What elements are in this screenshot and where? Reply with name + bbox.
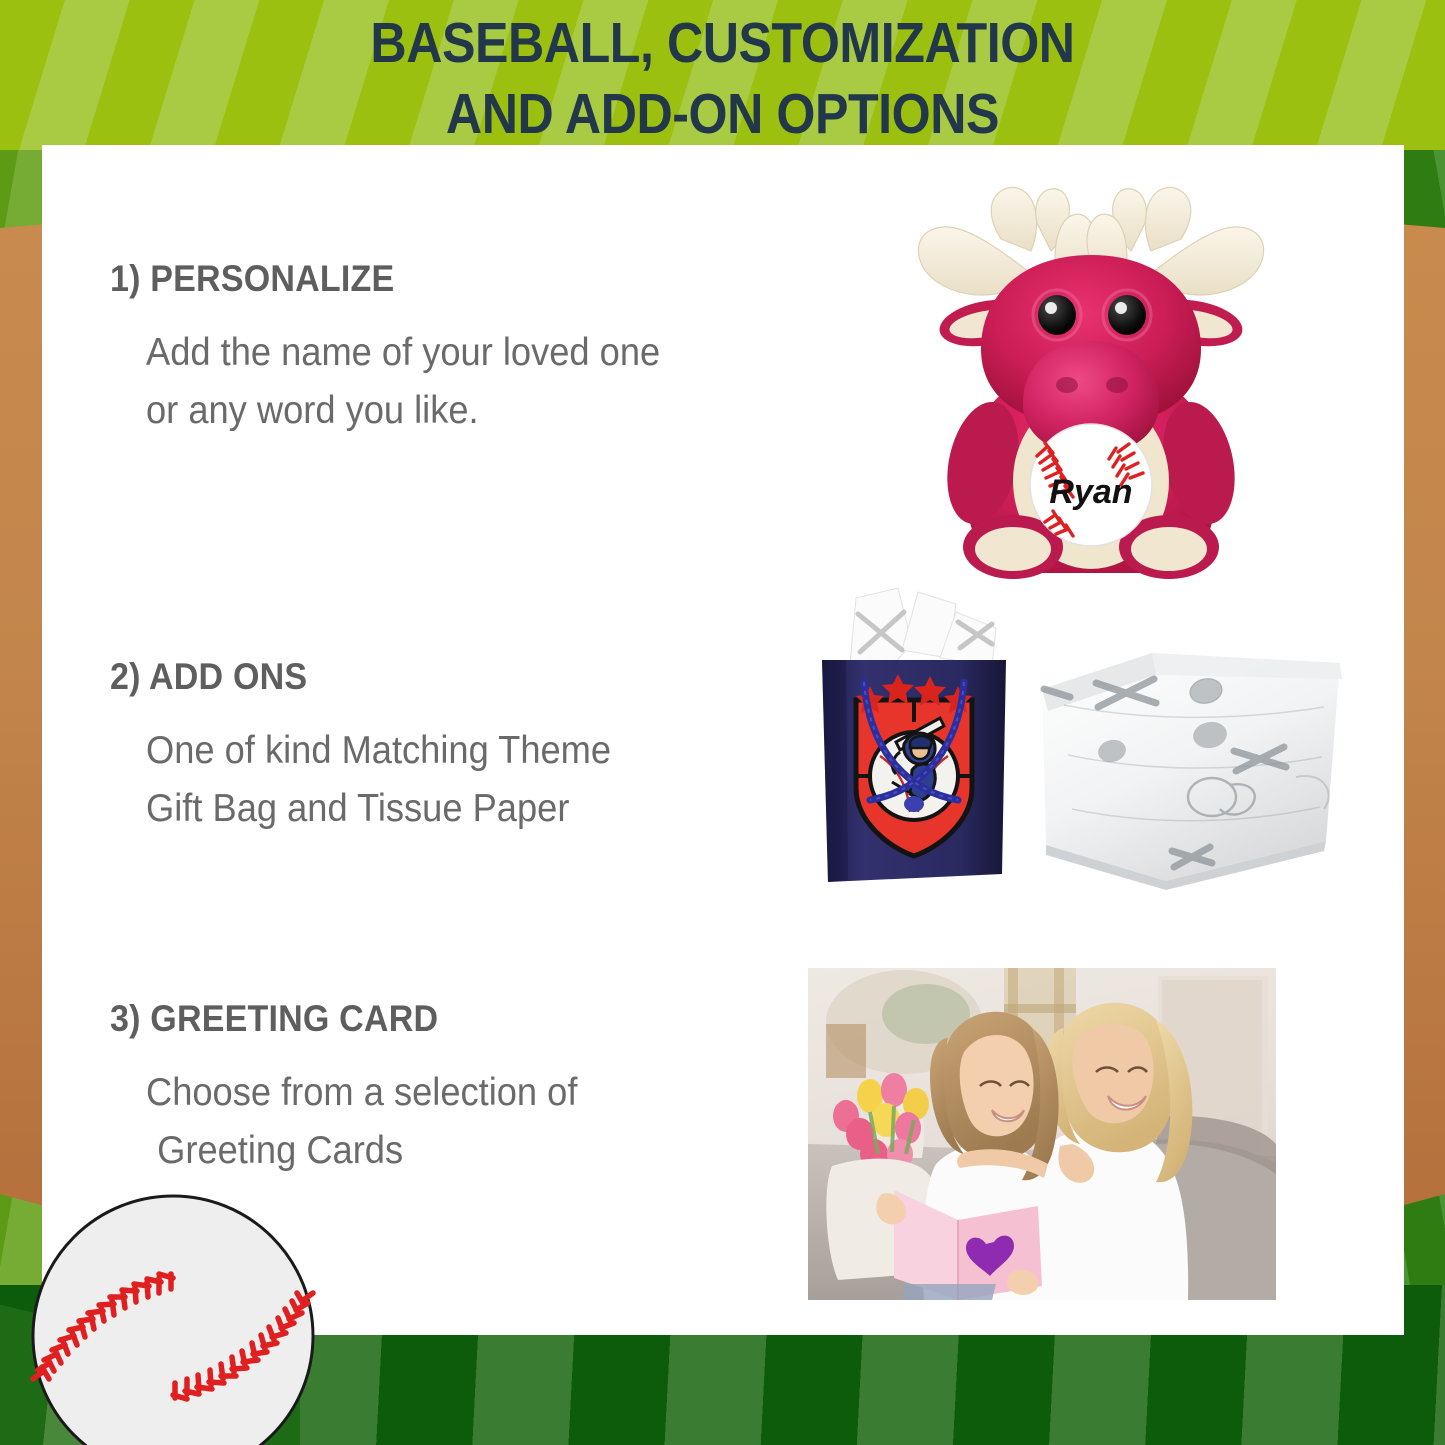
step-item-greeting-card: 3) GREETING CARD Choose from a selection… — [110, 998, 810, 1179]
step-heading: 2) ADD ONS — [110, 656, 754, 698]
page-title: BASEBALL, CUSTOMIZATION AND ADD-ON OPTIO… — [87, 8, 1359, 149]
step-body: Choose from a selection of Greeting Card… — [146, 1064, 764, 1179]
step-body-line-2: Gift Bag and Tissue Paper — [146, 780, 764, 838]
baseball-name-patch: Ryan — [1030, 424, 1152, 546]
step-body: Add the name of your loved one or any wo… — [146, 324, 764, 439]
step-body-line-2: Greeting Cards — [146, 1122, 764, 1180]
page-title-line-1: BASEBALL, CUSTOMIZATION — [87, 8, 1359, 79]
step-heading: 3) GREETING CARD — [110, 998, 754, 1040]
step-body-line-1: One of kind Matching Theme — [146, 722, 764, 780]
step-body-line-1: Add the name of your loved one — [146, 324, 764, 382]
step-body: One of kind Matching Theme Gift Bag and … — [146, 722, 764, 837]
step-body-line-1: Choose from a selection of — [146, 1064, 764, 1122]
step-body-line-2: or any word you like. — [146, 382, 764, 440]
tissue-paper-image — [1024, 645, 1354, 890]
step-heading: 1) PERSONALIZE — [110, 258, 754, 300]
infographic-canvas: BASEBALL, CUSTOMIZATION AND ADD-ON OPTIO… — [0, 0, 1445, 1445]
greeting-card-photo — [808, 968, 1276, 1300]
plush-name-text: Ryan — [1049, 473, 1132, 511]
page-title-line-2: AND ADD-ON OPTIONS — [87, 79, 1359, 150]
step-item-add-ons: 2) ADD ONS One of kind Matching Theme Gi… — [110, 656, 810, 837]
baseball-decoration — [30, 1193, 316, 1445]
step-item-personalize: 1) PERSONALIZE Add the name of your love… — [110, 258, 810, 439]
plush-moose-image: Ryan — [905, 163, 1277, 581]
